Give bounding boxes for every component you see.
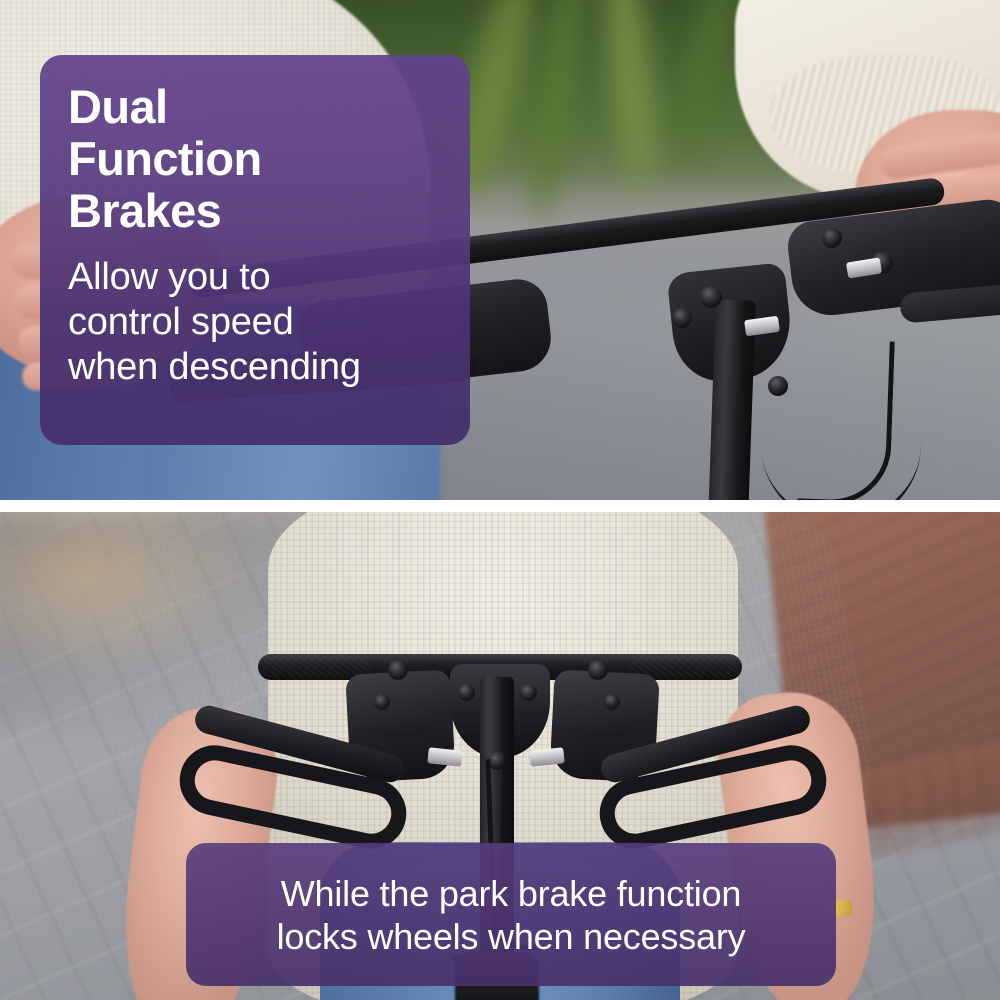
bottom-overlay-card: While the park brake function locks whee… [186, 843, 836, 986]
panel-divider [0, 500, 1000, 512]
bolt [604, 694, 620, 710]
right-brake-lever-pad [568, 704, 640, 738]
card-caption: While the park brake function locks whee… [277, 872, 746, 958]
bolt [700, 286, 722, 308]
top-overlay-card: Dual Function Brakes Allow you to contro… [40, 55, 470, 445]
brake-cable-secondary [797, 338, 895, 500]
card-title: Dual Function Brakes [68, 81, 440, 237]
bolt [388, 660, 408, 680]
bolt [822, 228, 842, 248]
left-brake-lever-pad [364, 704, 436, 738]
bolt [588, 660, 608, 680]
promo-image-root: Dual Function Brakes Allow you to contro… [0, 0, 1000, 1000]
bolt [374, 694, 390, 710]
top-image-panel: Dual Function Brakes Allow you to contro… [0, 0, 1000, 500]
card-subtitle: Allow you to control speed when descendi… [68, 255, 440, 390]
bolt [520, 684, 537, 701]
bolt [672, 308, 692, 328]
bolt [458, 684, 475, 701]
